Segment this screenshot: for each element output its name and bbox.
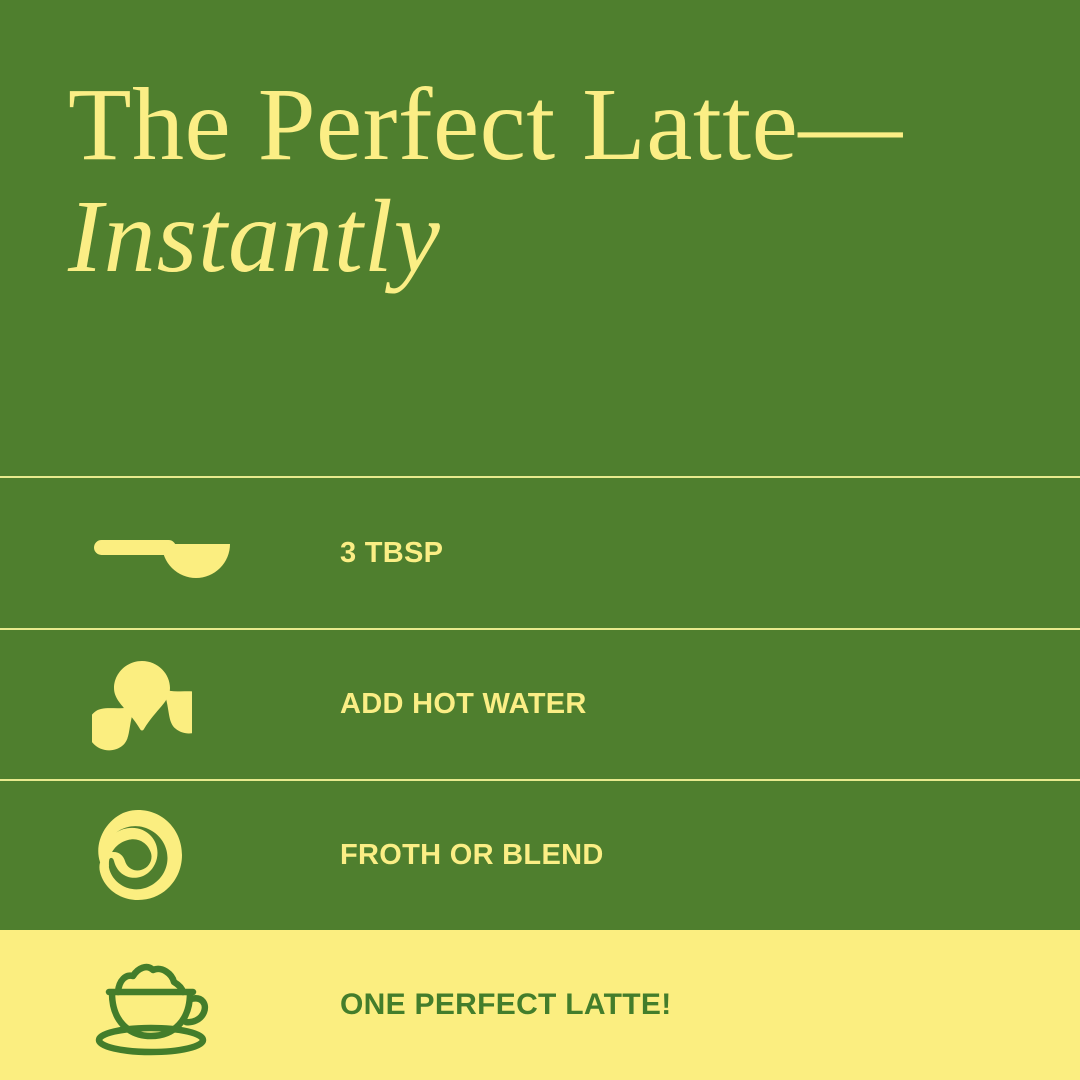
step-row: ONE PERFECT LATTE! bbox=[0, 930, 1080, 1080]
title-line-1: The Perfect Latte— bbox=[68, 72, 1008, 178]
step-label: ADD HOT WATER bbox=[340, 688, 1080, 721]
step-row: FROTH OR BLEND bbox=[0, 779, 1080, 930]
step-label-cell: 3 TBSP bbox=[340, 537, 1080, 570]
measuring-spoon-icon bbox=[92, 518, 232, 588]
poster-title: The Perfect Latte— Instantly bbox=[68, 72, 1008, 290]
step-label-cell: ONE PERFECT LATTE! bbox=[340, 988, 1080, 1022]
step-icon-cell bbox=[0, 518, 340, 588]
poster-canvas: The Perfect Latte— Instantly 3 TBSP bbox=[0, 0, 1080, 1080]
step-icon-cell bbox=[0, 952, 340, 1058]
step-label: 3 TBSP bbox=[340, 537, 1080, 570]
step-icon-cell bbox=[0, 657, 340, 753]
step-row: ADD HOT WATER bbox=[0, 628, 1080, 779]
step-label-cell: ADD HOT WATER bbox=[340, 688, 1080, 721]
latte-cup-icon bbox=[92, 952, 210, 1058]
water-drops-icon bbox=[92, 657, 192, 753]
froth-swirl-icon bbox=[92, 808, 184, 904]
step-label: ONE PERFECT LATTE! bbox=[340, 988, 1080, 1022]
step-label-cell: FROTH OR BLEND bbox=[340, 839, 1080, 872]
step-icon-cell bbox=[0, 808, 340, 904]
step-row: 3 TBSP bbox=[0, 476, 1080, 628]
step-label: FROTH OR BLEND bbox=[340, 839, 1080, 872]
title-line-2: Instantly bbox=[68, 184, 1008, 290]
steps-list: 3 TBSP ADD HOT WATER bbox=[0, 476, 1080, 1080]
